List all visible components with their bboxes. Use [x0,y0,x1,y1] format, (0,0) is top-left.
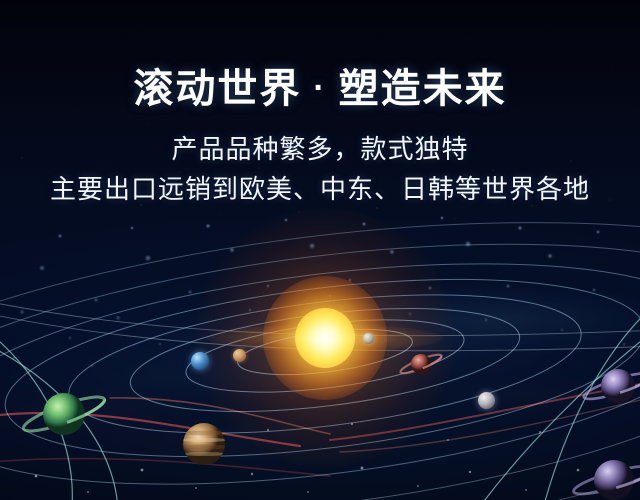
planet-purple-ringed [578,362,640,414]
planet-green-ringed [20,388,140,458]
headline-separator-dot: · [313,68,326,108]
subtitle-line-1: 产品品种繁多，款式独特 [0,131,640,169]
sun-flare-streak [207,324,443,352]
planet-mercury-grey [363,333,374,344]
subtitle-line-2: 主要出口远销到欧美、中东、日韩等世界各地 [0,171,640,209]
space-banner: 滚动世界·塑造未来 产品品种繁多，款式独特 主要出口远销到欧美、中东、日韩等世界… [0,0,640,500]
page-title: 滚动世界·塑造未来 [0,66,640,113]
planet-violet-ringed [568,452,640,500]
headline-left: 滚动世界 [133,67,301,111]
banner-text-block: 滚动世界·塑造未来 产品品种繁多，款式独特 主要出口远销到欧美、中东、日韩等世界… [0,66,640,209]
planet-moon-grey [478,392,495,409]
headline-right: 塑造未来 [339,67,507,111]
